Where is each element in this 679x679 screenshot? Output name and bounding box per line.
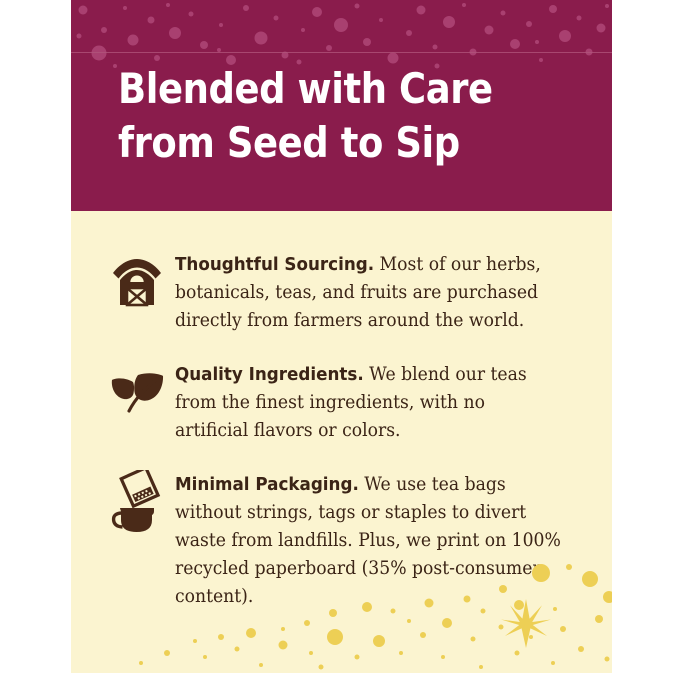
- teabag-cup-icon: [99, 469, 175, 535]
- leaves-icon: [99, 359, 175, 425]
- list-item: Quality Ingredients. We blend our teas f…: [71, 359, 612, 445]
- list-item: Minimal Packaging. We use tea bags witho…: [71, 469, 612, 611]
- page-title: Blended with Care from Seed to Sip: [118, 62, 535, 170]
- barn-icon: [99, 249, 175, 315]
- list-item-text: Quality Ingredients. We blend our teas f…: [175, 359, 563, 445]
- list-item-text: Thoughtful Sourcing. Most of our herbs, …: [175, 249, 563, 335]
- poster-card: Blended with Care from Seed to Sip: [71, 0, 612, 673]
- list-item-heading: Thoughtful Sourcing.: [175, 254, 374, 275]
- list-item-text: Minimal Packaging. We use tea bags witho…: [175, 469, 563, 611]
- feature-list: Thoughtful Sourcing. Most of our herbs, …: [71, 249, 612, 635]
- poster-body: Thoughtful Sourcing. Most of our herbs, …: [71, 211, 612, 673]
- header-divider-rule: [71, 52, 612, 53]
- list-item: Thoughtful Sourcing. Most of our herbs, …: [71, 249, 612, 335]
- poster-header: Blended with Care from Seed to Sip: [71, 0, 612, 211]
- list-item-heading: Minimal Packaging.: [175, 474, 359, 495]
- list-item-heading: Quality Ingredients.: [175, 364, 364, 385]
